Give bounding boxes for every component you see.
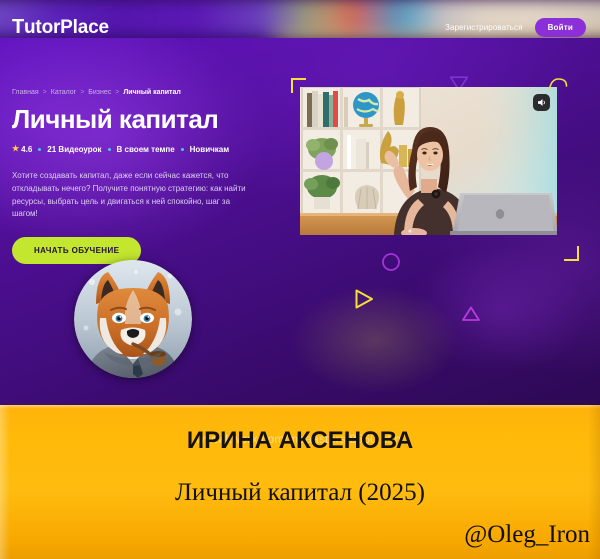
logo-text: utorPlace <box>24 18 109 37</box>
course-video-player[interactable] <box>300 87 557 235</box>
site-logo[interactable]: TutorPlace <box>12 17 109 37</box>
level-badge: Новичкам <box>190 145 230 154</box>
meta-dot-icon <box>38 148 41 151</box>
course-meta-row: ★ 4.6 21 Видеоурок В своем темпе Новичка… <box>12 145 287 154</box>
video-frame <box>300 87 557 235</box>
breadcrumb-item-catalog[interactable]: Каталог <box>51 89 76 96</box>
register-link[interactable]: Зарегистрироваться <box>445 23 522 32</box>
page-title: Личный капитал <box>12 105 287 134</box>
star-icon: ★ <box>12 145 19 153</box>
breadcrumb-separator-icon: > <box>80 89 84 96</box>
author-name: ИРИНА АКСЕНОВА <box>0 427 600 455</box>
squiggle-decoration-icon <box>548 76 568 97</box>
meta-dot-icon <box>108 148 111 151</box>
site-header: TutorPlace Зарегистрироваться Войти <box>0 12 600 42</box>
video-corner-bracket-bottom-right <box>564 246 579 261</box>
header-actions: Зарегистрироваться Войти <box>445 18 586 37</box>
social-handle: @Oleg_Iron <box>464 521 590 549</box>
rating-badge: ★ 4.6 <box>12 145 32 154</box>
page-root: TutorPlace Зарегистрироваться Войти Глав… <box>0 0 600 559</box>
video-corner-bracket-top-left <box>291 78 306 93</box>
rating-value: 4.6 <box>21 145 32 154</box>
course-info-column: Личный капитал ★ 4.6 21 Видеоурок В свое… <box>12 105 287 264</box>
avatar <box>74 260 192 378</box>
sound-on-icon <box>536 97 547 108</box>
login-button[interactable]: Войти <box>535 18 586 37</box>
logo-mark-icon: T <box>12 17 24 37</box>
breadcrumb-separator-icon: > <box>115 89 119 96</box>
meta-dot-icon <box>181 148 184 151</box>
breadcrumb-item-home[interactable]: Главная <box>12 89 39 96</box>
breadcrumb-item-business[interactable]: Бизнес <box>88 89 111 96</box>
hero-glow-right <box>410 245 590 375</box>
breadcrumb: Главная > Каталог > Бизнес > Личный капи… <box>12 89 181 96</box>
footer-course-title: Личный капитал (2025) <box>0 479 600 507</box>
pace-badge: В своем темпе <box>117 145 175 154</box>
breadcrumb-separator-icon: > <box>43 89 47 96</box>
course-description: Хотите создавать капитал, даже если сейч… <box>12 170 247 222</box>
lessons-badge: 21 Видеоурок <box>47 145 101 154</box>
breadcrumb-item-current: Личный капитал <box>123 89 180 96</box>
hero-glow-bottom <box>290 285 460 395</box>
